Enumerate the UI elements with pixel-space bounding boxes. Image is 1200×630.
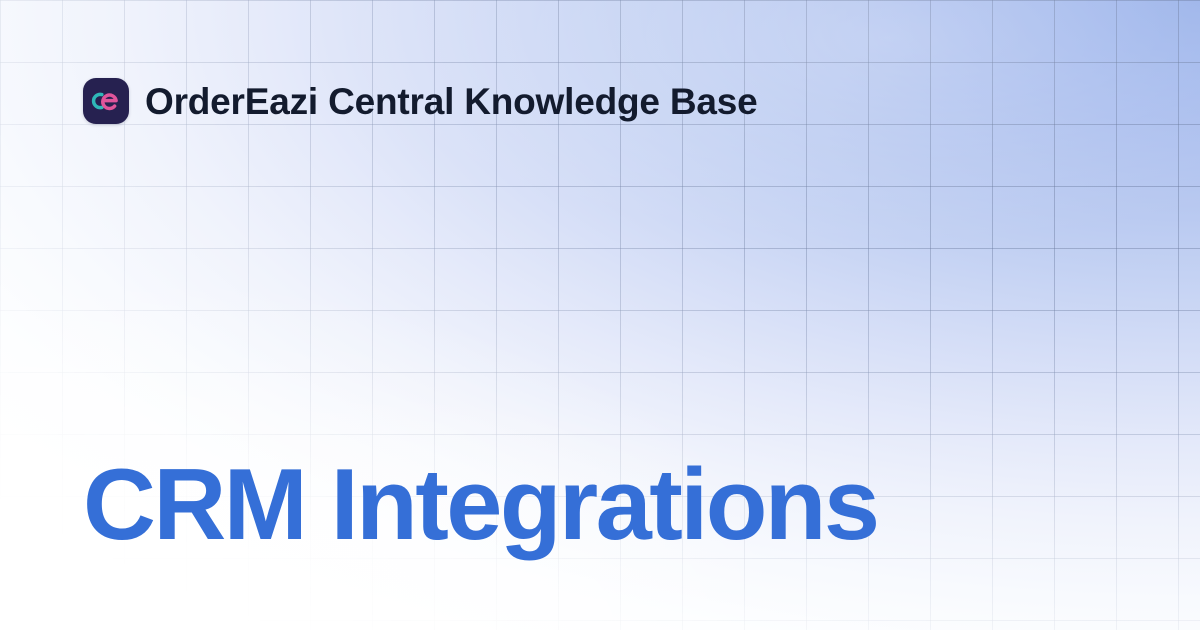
brand-header: OrderEazi Central Knowledge Base — [83, 78, 758, 124]
brand-title: OrderEazi Central Knowledge Base — [145, 83, 758, 120]
card-content: OrderEazi Central Knowledge Base CRM Int… — [0, 0, 1200, 630]
ordereazi-ce-monogram-icon — [83, 78, 129, 124]
og-card: OrderEazi Central Knowledge Base CRM Int… — [0, 0, 1200, 630]
page-title: CRM Integrations — [83, 452, 877, 559]
